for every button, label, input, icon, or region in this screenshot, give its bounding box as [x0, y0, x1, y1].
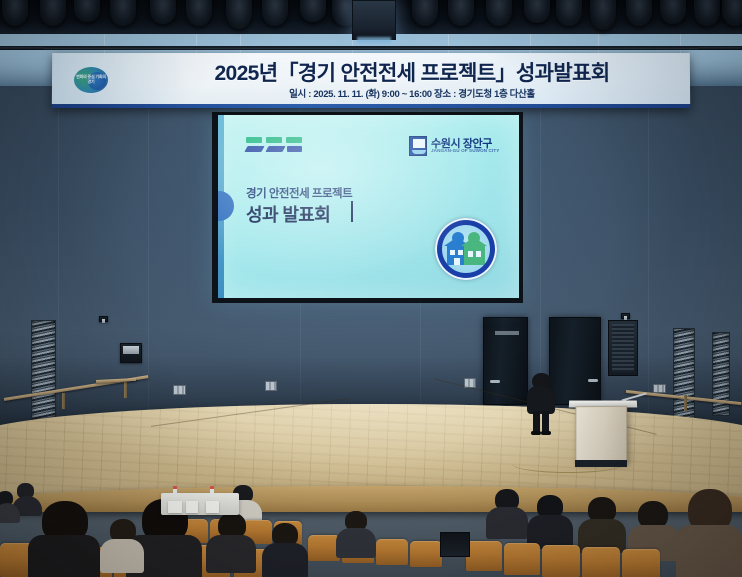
- water-bottle: [210, 486, 214, 497]
- attendee-row2-right: [206, 513, 256, 569]
- lectern-base: [575, 460, 627, 467]
- attendee-row2-left: [100, 519, 144, 569]
- stage-light-icon: [300, 0, 326, 22]
- banner-title: 2025년「경기 안전전세 프로젝트」성과발표회: [147, 57, 677, 87]
- auditorium-seat: [466, 541, 502, 571]
- ceiling-projector: [352, 0, 396, 40]
- attendee-mid-r2: [527, 495, 573, 547]
- emergency-light: [621, 313, 630, 319]
- stage-light-icon: [186, 0, 212, 26]
- attendee-mid-r1: [486, 489, 528, 537]
- ceiling: [0, 0, 742, 34]
- document-sheet: [168, 501, 182, 513]
- stage-light-icon: [448, 0, 474, 26]
- auditorium-seat: [504, 543, 540, 575]
- auditorium-seat: [622, 549, 660, 577]
- stage-light-icon: [590, 0, 616, 30]
- attendee-far-edge: [0, 491, 20, 521]
- auditorium-seat: [410, 541, 442, 567]
- slide-title: 성과 발표회: [246, 201, 330, 227]
- wall-outlet-right[interactable]: [653, 384, 666, 393]
- safe-jeonse-emblem-icon: [435, 218, 497, 280]
- banner-support-rod: [44, 47, 698, 50]
- wall-outlet-mid[interactable]: [265, 381, 277, 391]
- stage-light-icon: [694, 0, 720, 26]
- attendee-near-left: [28, 501, 100, 577]
- lectern-body: [575, 406, 627, 463]
- attendee-row3: [262, 523, 308, 577]
- document-sheet: [186, 501, 198, 513]
- wall-speaker: [608, 320, 638, 376]
- event-banner: 변화의 중심 기회의 경기 2025년「경기 안전전세 프로젝트」성과발표회 일…: [52, 53, 690, 108]
- lectern: [575, 398, 627, 470]
- stage-light-icon: [660, 0, 686, 24]
- gyeonggi-logo: [246, 137, 302, 157]
- auditorium-seat: [376, 539, 408, 565]
- stage-light-icon: [722, 0, 742, 26]
- gyeonggi-province-emblem-icon: 변화의 중심 기회의 경기: [72, 63, 110, 97]
- emergency-light: [99, 316, 108, 322]
- auditorium-scene: 변화의 중심 기회의 경기 2025년「경기 안전전세 프로젝트」성과발표회 일…: [0, 0, 742, 577]
- document-sheet: [206, 501, 219, 513]
- stage-light-icon: [626, 0, 652, 26]
- auditorium-seat: [582, 547, 620, 577]
- banner-logo-text: 변화의 중심 기회의 경기: [75, 74, 107, 84]
- attendee-front-right: [676, 489, 742, 577]
- stage-light-icon: [524, 0, 550, 23]
- slide-kicker: 경기 안전전세 프로젝트: [246, 185, 352, 201]
- audience-area: [0, 483, 742, 577]
- stage-light-icon: [2, 0, 28, 26]
- attendee-mid-r3: [578, 497, 626, 551]
- handrail-post: [124, 382, 127, 398]
- floor-monitor: [440, 532, 470, 557]
- wall-control-panel[interactable]: [120, 343, 142, 363]
- slide-title-caret: [351, 201, 353, 222]
- stage-light-icon: [40, 0, 66, 26]
- stage-light-icon: [74, 0, 100, 22]
- stage-light-icon: [110, 0, 136, 26]
- jangan-gu-logo: 수원시 장안구 JANGAN-GU OF SUWON CITY: [409, 135, 505, 159]
- stage-light-icon: [412, 0, 438, 26]
- auditorium-seat: [542, 545, 580, 577]
- wall-outlet-left[interactable]: [173, 385, 186, 395]
- stage-light-icon: [486, 0, 512, 26]
- slide-decoration-circle: [218, 191, 234, 221]
- water-bottle: [173, 486, 177, 497]
- jangan-gu-mark-icon: [409, 136, 427, 156]
- projection-screen: 수원시 장안구 JANGAN-GU OF SUWON CITY 경기 안전전세 …: [218, 115, 519, 298]
- stage-light-icon: [556, 0, 582, 26]
- attendee-far-right-aisle: [336, 511, 376, 555]
- jangan-gu-label-en: JANGAN-GU OF SUWON CITY: [431, 148, 499, 153]
- presenter-person: [524, 373, 558, 435]
- presenter-body: [527, 386, 555, 414]
- banner-subtitle: 일시 : 2025. 11. 11. (화) 9:00 ~ 16:00 장소 :…: [147, 86, 677, 100]
- stage-light-icon: [150, 0, 176, 24]
- stage-light-icon: [262, 0, 288, 26]
- stage-light-icon: [226, 0, 252, 29]
